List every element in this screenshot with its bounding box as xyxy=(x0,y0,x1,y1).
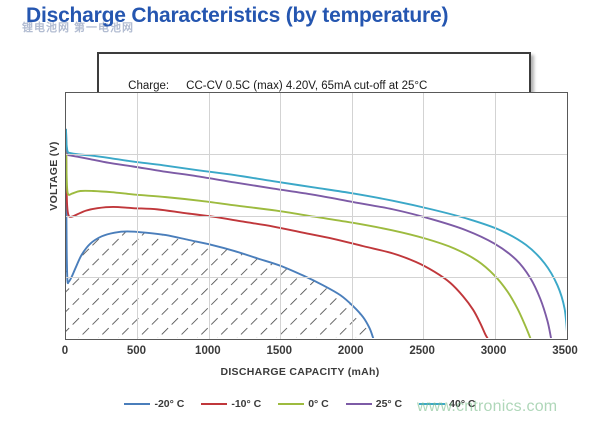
legend-label: -10° C xyxy=(231,398,261,410)
gridline-vertical xyxy=(423,93,424,339)
x-axis-tick-label: 3000 xyxy=(464,345,524,357)
legend-item-2[interactable]: 0° C xyxy=(278,398,329,410)
legend-label: 25° C xyxy=(376,398,402,410)
gridline-vertical xyxy=(209,93,210,339)
legend-item-3[interactable]: 25° C xyxy=(346,398,402,410)
legend-swatch-icon xyxy=(124,403,150,406)
x-axis-tick-label: 0 xyxy=(35,345,95,357)
legend-label: -20° C xyxy=(154,398,184,410)
page-title: Discharge Characteristics (by temperatur… xyxy=(26,4,448,28)
y-axis-label: VOLTAGE (V) xyxy=(48,116,60,236)
gridline-vertical xyxy=(280,93,281,339)
legend-swatch-icon xyxy=(201,403,227,406)
x-axis-tick-label: 2500 xyxy=(392,345,452,357)
x-axis-label: DISCHARGE CAPACITY (mAh) xyxy=(0,366,600,378)
chart-screenshot: 锂电池网 第一电池网 Discharge Characteristics (by… xyxy=(0,0,600,424)
x-axis-tick-label: 500 xyxy=(106,345,166,357)
legend-item-1[interactable]: -10° C xyxy=(201,398,261,410)
legend-swatch-icon xyxy=(278,403,304,406)
plot-area xyxy=(65,92,568,340)
legend-swatch-icon xyxy=(346,403,372,406)
gridline-horizontal xyxy=(66,154,567,155)
x-axis-tick-label: 1000 xyxy=(178,345,238,357)
gridline-vertical xyxy=(137,93,138,339)
x-axis-tick-label: 3500 xyxy=(535,345,595,357)
legend-label: 0° C xyxy=(308,398,329,410)
x-axis-tick-label: 1500 xyxy=(249,345,309,357)
conditions-infobox: Charge:CC-CV 0.5C (max) 4.20V, 65mA cut-… xyxy=(97,52,531,97)
infobox-charge-value: CC-CV 0.5C (max) 4.20V, 65mA cut-off at … xyxy=(186,80,427,92)
x-axis-tick-label: 2000 xyxy=(321,345,381,357)
gridline-vertical xyxy=(352,93,353,339)
gridline-horizontal xyxy=(66,277,567,278)
legend-item-0[interactable]: -20° C xyxy=(124,398,184,410)
gridline-horizontal xyxy=(66,216,567,217)
site-watermark: www.cntronics.com xyxy=(417,398,557,416)
gridline-vertical xyxy=(495,93,496,339)
